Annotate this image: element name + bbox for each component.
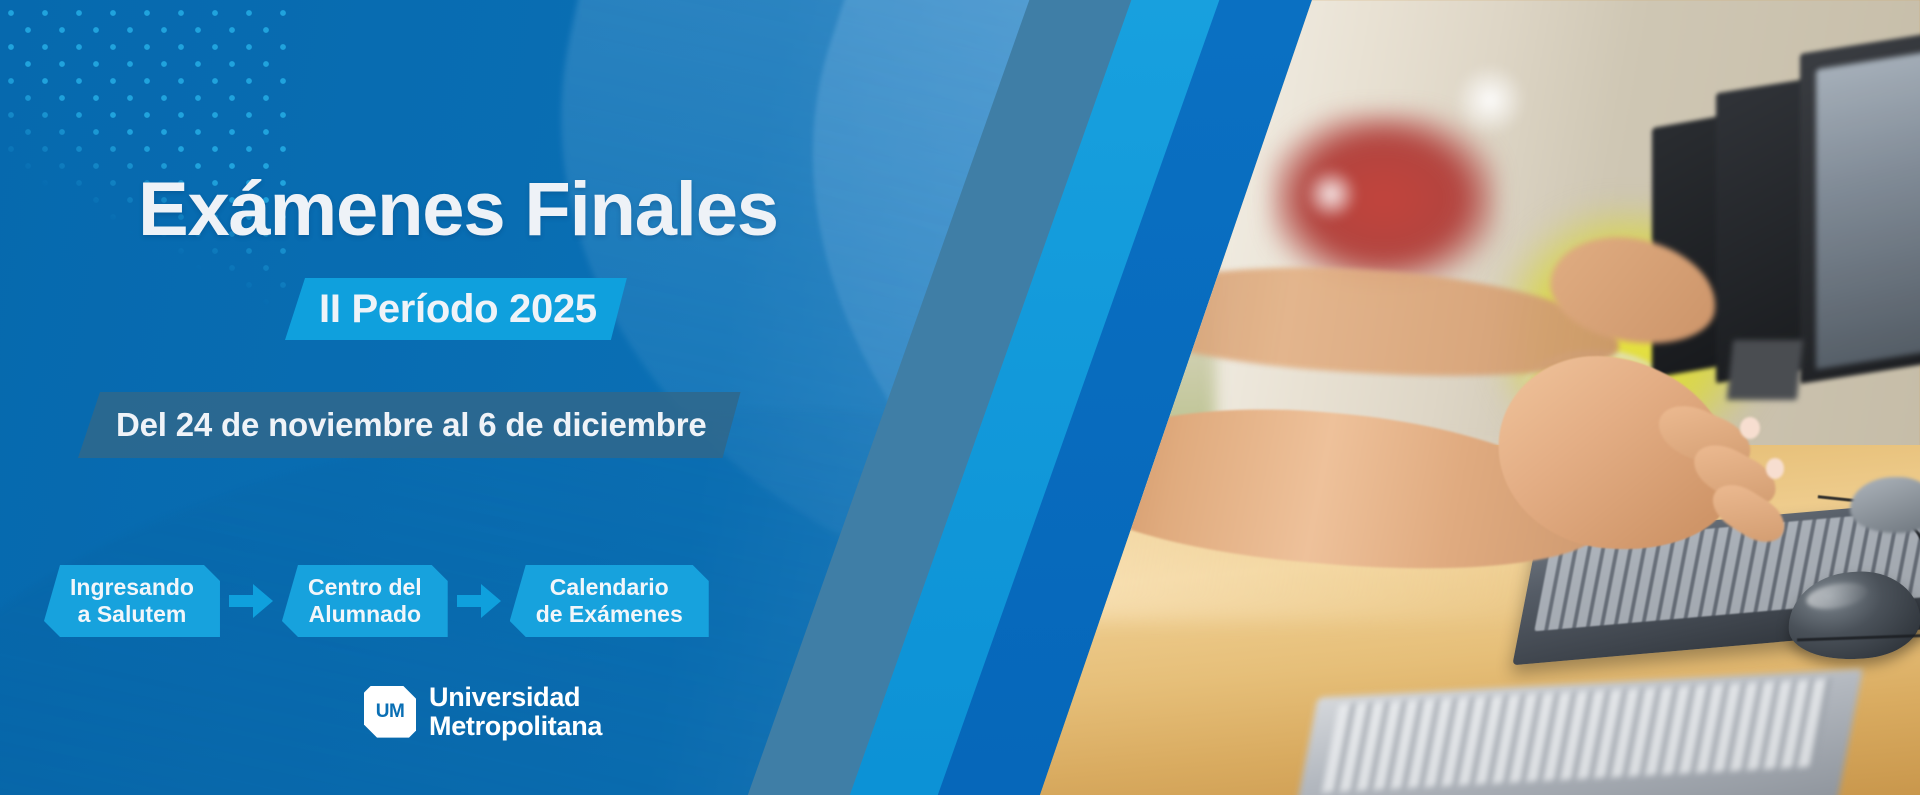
step-badge-ingresando-a-salutem[interactable]: Ingresando a Salutem (44, 565, 220, 637)
monitor-screen (1816, 50, 1920, 369)
dates-badge: Del 24 de noviembre al 6 de diciembre (78, 392, 741, 458)
university-logo[interactable]: UM Universidad Metropolitana (364, 683, 602, 740)
banner-content: Exámenes Finales II Período 2025 Del 24 … (0, 0, 1100, 795)
step-line-1: Ingresando (70, 574, 194, 601)
logo-line-2: Metropolitana (429, 712, 602, 741)
arrow-right-icon (220, 584, 282, 618)
exam-schedule-banner: Exámenes Finales II Período 2025 Del 24 … (0, 0, 1920, 795)
lab-red-object-blur (1269, 111, 1498, 286)
fingernail-one (1740, 417, 1760, 439)
step-line-1: Calendario (550, 574, 669, 601)
step-line-2: de Exámenes (536, 601, 683, 628)
arrow-right-icon (448, 584, 510, 618)
bokeh-highlight-secondary (1304, 167, 1358, 221)
bokeh-highlight (1454, 64, 1526, 136)
logo-mark-text: UM (376, 702, 405, 721)
monitor-stand (1727, 340, 1803, 400)
logo-wordmark: Universidad Metropolitana (429, 683, 602, 740)
um-logo-mark-icon: UM (364, 686, 416, 738)
banner-title: Exámenes Finales (138, 172, 778, 248)
step-line-1: Centro del (308, 574, 422, 601)
step-badge-centro-del-alumnado[interactable]: Centro del Alumnado (282, 565, 448, 637)
steps-flow: Ingresando a Salutem Centro del Alumnado… (44, 565, 709, 637)
step-line-2: Alumnado (309, 601, 421, 628)
step-line-2: a Salutem (78, 601, 187, 628)
step-badge-calendario-de-examenes[interactable]: Calendario de Exámenes (510, 565, 709, 637)
fingernail-two (1766, 458, 1784, 479)
period-badge: II Período 2025 (285, 278, 627, 340)
logo-line-1: Universidad (429, 682, 580, 712)
